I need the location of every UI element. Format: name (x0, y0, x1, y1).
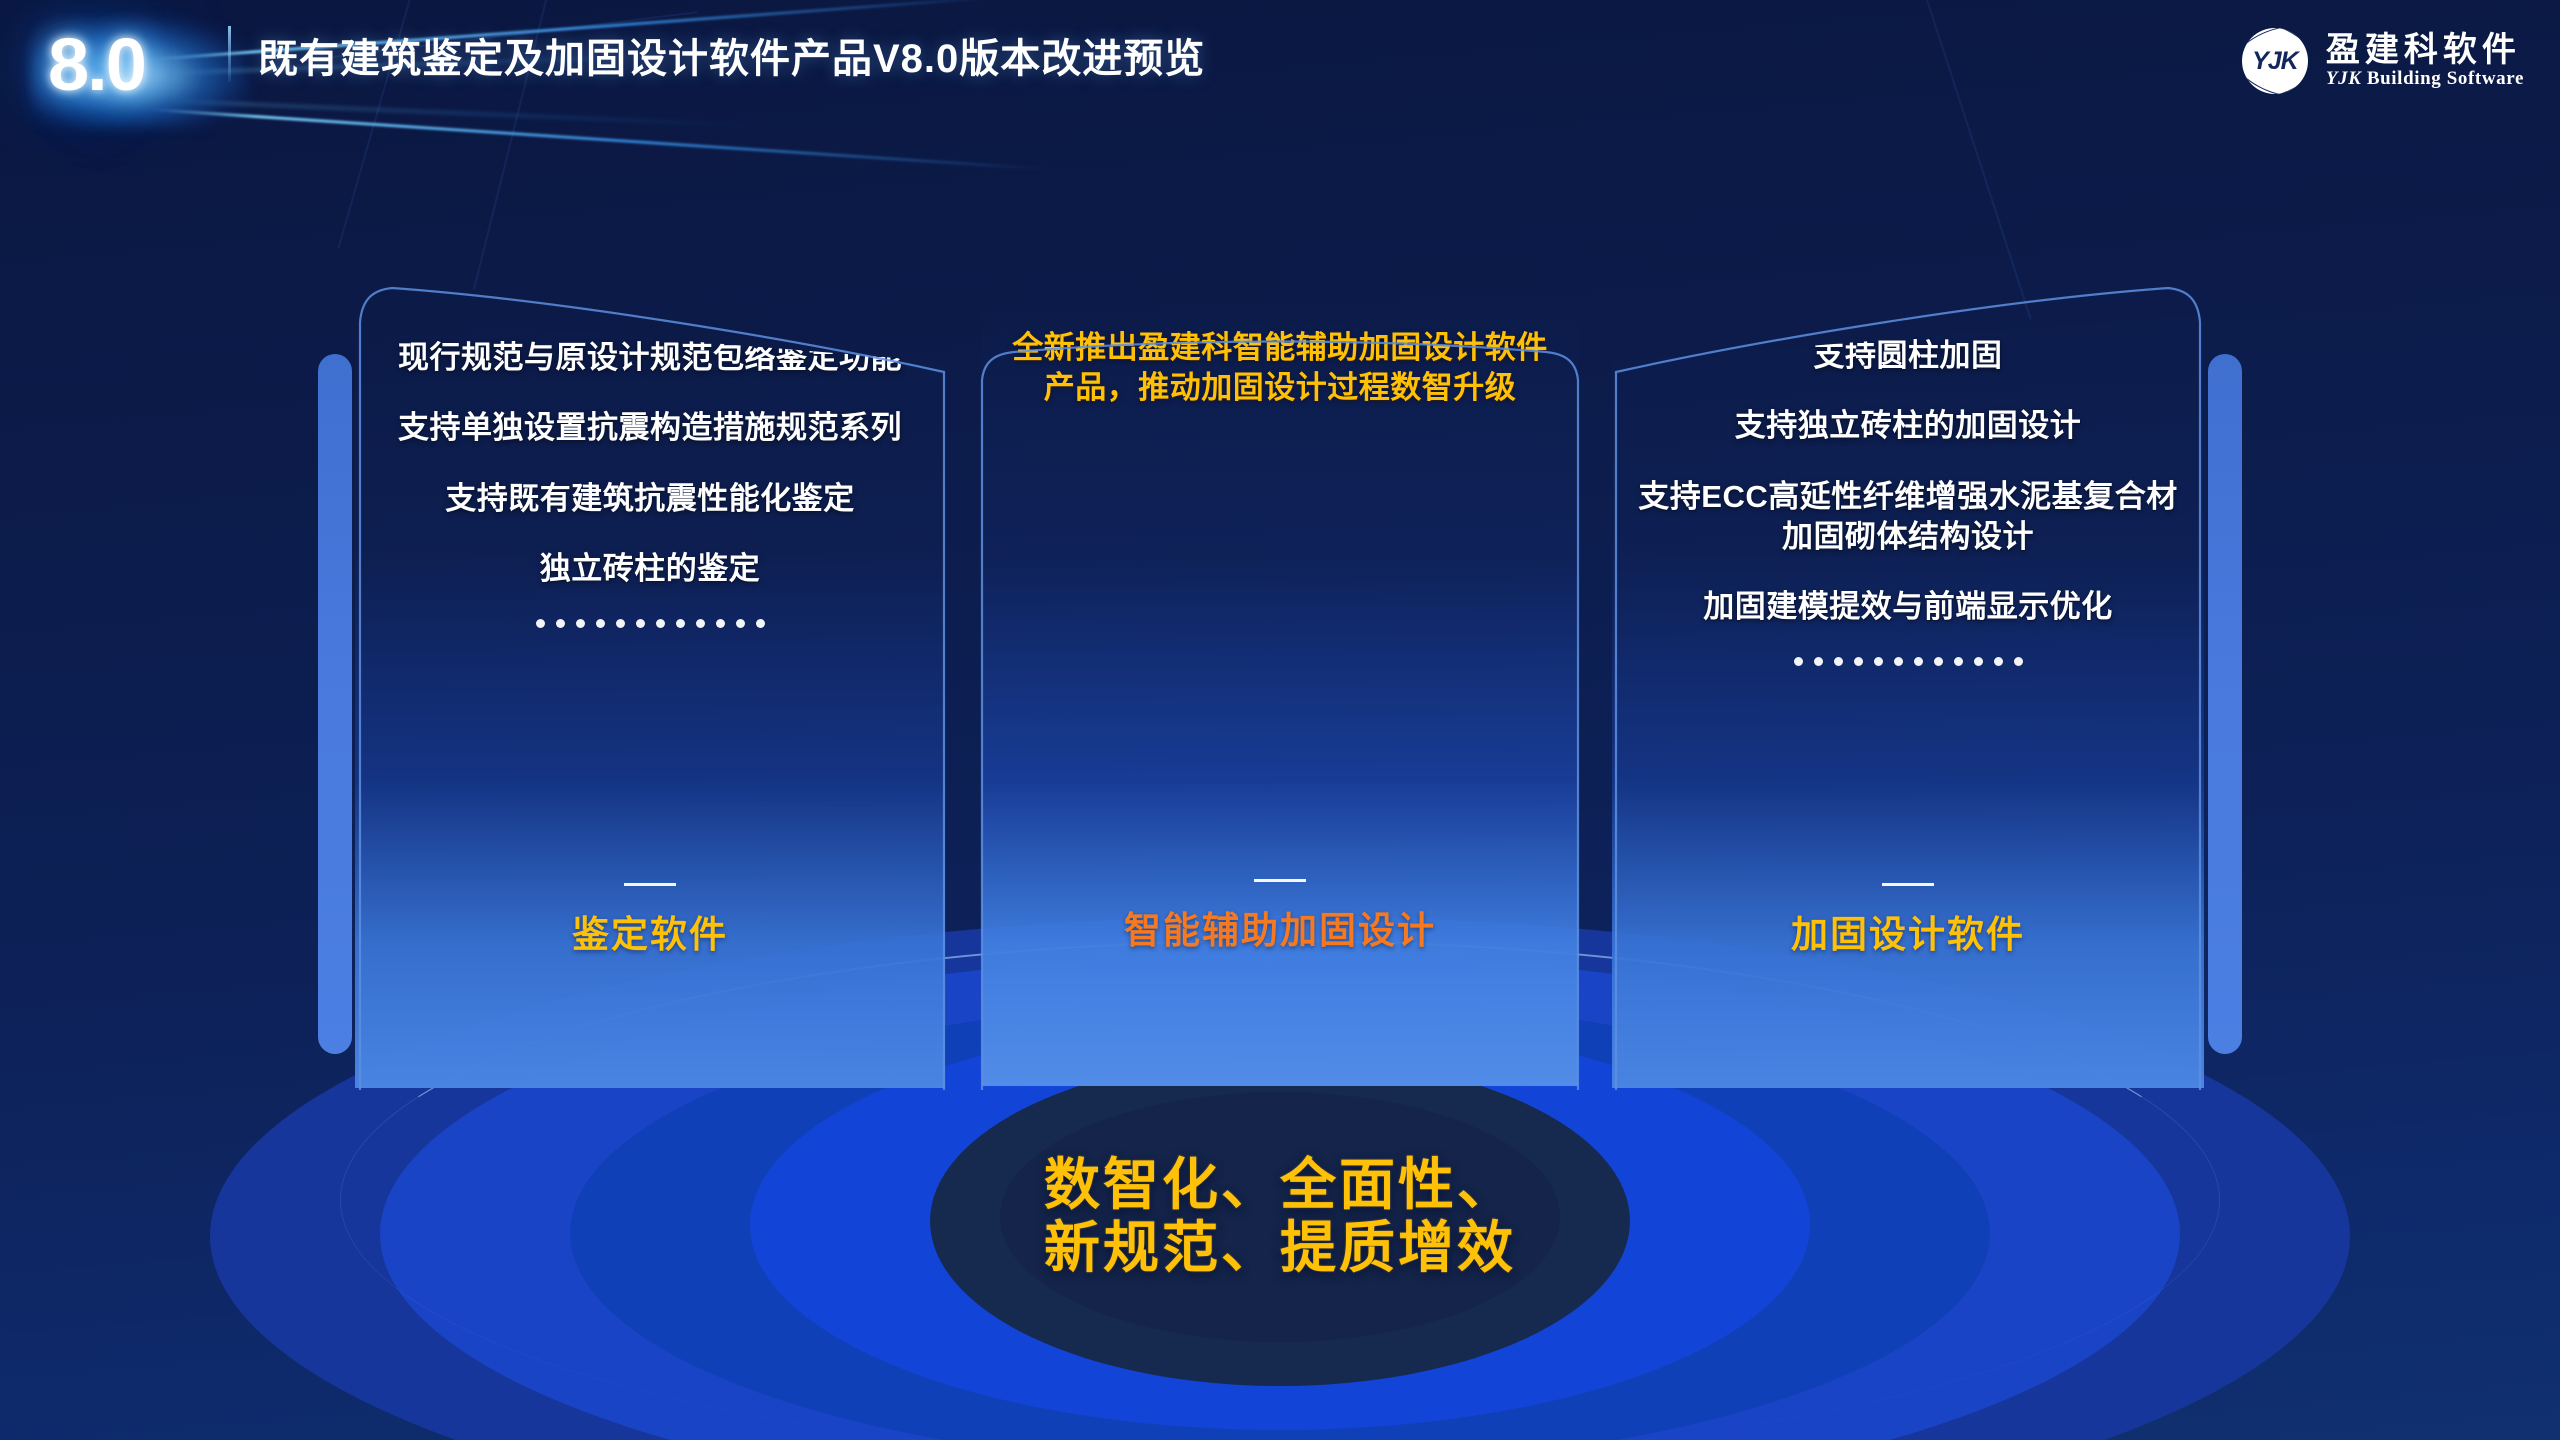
panel-footer: 鉴定软件 (355, 883, 945, 958)
slogan: 数智化、全面性、 新规范、提质增效 (1044, 1154, 1516, 1279)
panel-label: 鉴定软件 (355, 904, 945, 958)
panel-bullet: 独立砖柱的鉴定 (371, 549, 929, 589)
panel-content: 现行规范与原设计规范包络鉴定功能 支持单独设置抗震构造措施规范系列 支持既有建筑… (355, 278, 945, 1088)
panel-bullet-list: 现行规范与原设计规范包络鉴定功能 支持单独设置抗震构造措施规范系列 支持既有建筑… (355, 338, 945, 628)
label-divider (1882, 883, 1934, 886)
panel-appraisal-software[interactable]: 现行规范与原设计规范包络鉴定功能 支持单独设置抗震构造措施规范系列 支持既有建筑… (355, 278, 945, 1088)
brand-text: 盈建科软件 YJK Building Software (2326, 33, 2524, 88)
slide-canvas: 8.0 既有建筑鉴定及加固设计软件产品V8.0版本改进预览 YJK 盈建科软件 … (0, 0, 2560, 1440)
label-divider (1254, 879, 1306, 882)
panel-bullet: 全新推出盈建科智能辅助加固设计软件产品，推动加固设计过程数智升级 (998, 328, 1562, 409)
slogan-line-2: 新规范、提质增效 (1044, 1217, 1516, 1280)
panel-bullet: 支持圆柱加固 (1628, 336, 2188, 376)
panel-content: 支持圆柱加固 支持独立砖柱的加固设计 支持ECC高延性纤维增强水泥基复合材加固砌… (1612, 278, 2204, 1088)
brand-name-en: YJK Building Software (2326, 69, 2524, 89)
slide-header: 8.0 既有建筑鉴定及加固设计软件产品V8.0版本改进预览 YJK 盈建科软件 … (0, 0, 2560, 118)
logo-mark-text: YJK (2252, 47, 2298, 76)
brand-logo: YJK 盈建科软件 YJK Building Software (2242, 28, 2524, 94)
panel-bullet: 现行规范与原设计规范包络鉴定功能 (371, 338, 929, 378)
panel-bullet: 支持既有建筑抗震性能化鉴定 (371, 479, 929, 519)
panel-bullet-list: 全新推出盈建科智能辅助加固设计软件产品，推动加固设计过程数智升级 (982, 328, 1578, 439)
panel-label: 加固设计软件 (1612, 904, 2204, 958)
ellipsis-dots-icon (1628, 657, 2188, 666)
panel-bullet: 支持ECC高延性纤维增强水泥基复合材加固砌体结构设计 (1628, 477, 2188, 558)
ellipsis-dots-icon (371, 619, 929, 628)
panel-content: 全新推出盈建科智能辅助加固设计软件产品，推动加固设计过程数智升级 (982, 286, 1578, 1086)
panel-bullet: 支持独立砖柱的加固设计 (1628, 406, 2188, 446)
panel-intelligent-assisted-reinforcement-design[interactable]: 全新推出盈建科智能辅助加固设计软件产品，推动加固设计过程数智升级 智能辅助加固设… (982, 286, 1578, 1086)
panel-label: 智能辅助加固设计 (982, 900, 1578, 954)
title-divider (228, 26, 231, 82)
panel-footer: 智能辅助加固设计 (982, 879, 1578, 954)
panel-footer: 加固设计软件 (1612, 883, 2204, 958)
slogan-line-1: 数智化、全面性、 (1044, 1154, 1516, 1217)
panel-bullet: 加固建模提效与前端显示优化 (1628, 587, 2188, 627)
brand-name-en-rest: Building Software (2362, 68, 2524, 89)
panel-bullet: 支持单独设置抗震构造措施规范系列 (371, 408, 929, 448)
panel-reinforcement-design-software[interactable]: 支持圆柱加固 支持独立砖柱的加固设计 支持ECC高延性纤维增强水泥基复合材加固砌… (1612, 278, 2204, 1088)
brand-name-en-abbr: YJK (2326, 68, 2362, 89)
page-title: 既有建筑鉴定及加固设计软件产品V8.0版本改进预览 (258, 26, 1205, 84)
label-divider (624, 883, 676, 886)
panel-bullet-list: 支持圆柱加固 支持独立砖柱的加固设计 支持ECC高延性纤维增强水泥基复合材加固砌… (1612, 336, 2204, 666)
yjk-circle-icon: YJK (2242, 28, 2308, 94)
brand-name-cn: 盈建科软件 (2326, 33, 2524, 68)
version-number: 8.0 (48, 22, 145, 107)
